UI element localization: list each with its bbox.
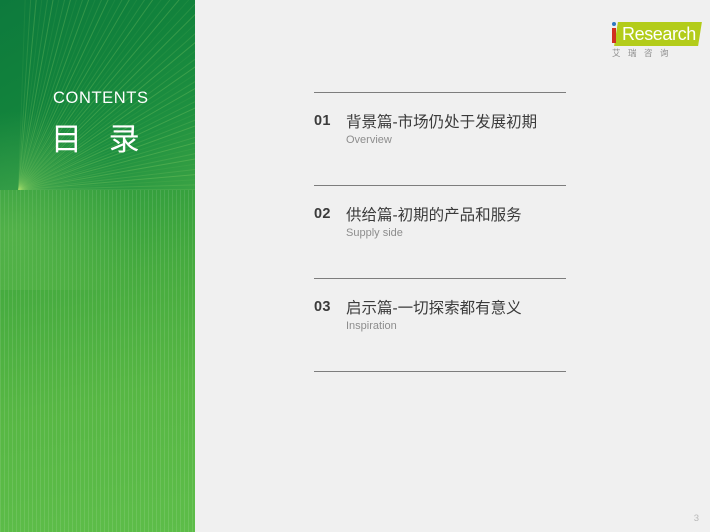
logo-i-dot-icon bbox=[612, 22, 616, 26]
contents-label-en: CONTENTS bbox=[53, 89, 149, 108]
toc-entry-subtitle: Overview bbox=[346, 134, 392, 146]
toc-entry-title: 启示篇-一切探索都有意义 bbox=[346, 296, 522, 318]
toc-entry-02[interactable]: 02 供给篇-初期的产品和服务 Supply side bbox=[314, 186, 566, 278]
toc-entry-title: 背景篇-市场仍处于发展初期 bbox=[346, 110, 537, 132]
table-of-contents: 01 背景篇-市场仍处于发展初期 Overview 02 供给篇-初期的产品和服… bbox=[314, 92, 566, 372]
logo-wordmark: Research bbox=[622, 24, 696, 45]
logo-chinese-name: 艾瑞咨询 bbox=[612, 47, 676, 59]
toc-entry-subtitle: Supply side bbox=[346, 227, 403, 239]
toc-divider bbox=[314, 371, 566, 372]
slide-canvas: CONTENTS 目 录 Research 艾瑞咨询 01 背景篇-市场仍处于发… bbox=[0, 0, 710, 532]
logo-i-stem-icon bbox=[612, 28, 616, 43]
toc-entry-number: 02 bbox=[314, 206, 331, 222]
toc-entry-title: 供给篇-初期的产品和服务 bbox=[346, 203, 522, 225]
sidebar-panel: CONTENTS 目 录 bbox=[0, 0, 195, 532]
toc-entry-01[interactable]: 01 背景篇-市场仍处于发展初期 Overview bbox=[314, 93, 566, 185]
toc-entry-number: 01 bbox=[314, 113, 331, 129]
iresearch-logo: Research 艾瑞咨询 bbox=[600, 18, 700, 63]
page-number: 3 bbox=[694, 513, 699, 524]
toc-entry-number: 03 bbox=[314, 299, 331, 315]
toc-entry-subtitle: Inspiration bbox=[346, 320, 397, 332]
toc-entry-03[interactable]: 03 启示篇-一切探索都有意义 Inspiration bbox=[314, 279, 566, 371]
contents-label-cn: 目 录 bbox=[51, 114, 149, 159]
